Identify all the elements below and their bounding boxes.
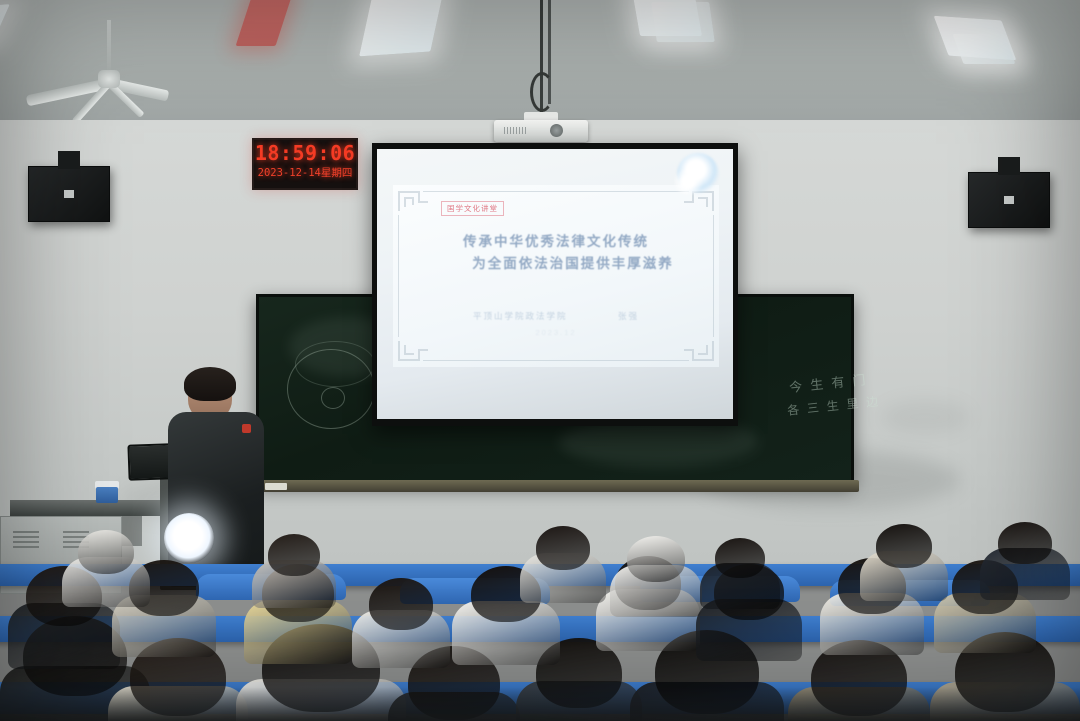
chalk-stick [265,483,287,490]
slide-border-top [423,191,689,192]
ceiling-light-panel [651,2,715,42]
ceiling-light-panel [0,4,10,48]
screen-light-flare [677,153,719,195]
audience-person-head [536,526,590,570]
wall-speaker-right [968,172,1050,228]
led-clock: 18:59:06 2023-12-14星期四 [252,138,358,190]
wall-speaker-left [28,166,110,222]
projector [494,112,588,142]
slide-title: 传承中华优秀法律文化传统 为全面依法治国提供丰厚滋养 [393,231,719,275]
meander-border-top-left [398,191,428,221]
jacket-badge [242,424,251,433]
audience-area [0,520,1080,721]
meander-border-top-right [684,191,714,221]
audience-person-head [369,578,433,630]
slide-badge: 国学文化讲堂 [441,201,504,216]
equipment-desk [10,500,160,516]
audience-person-head [268,534,320,576]
projector-cable-loop [530,72,554,112]
projection-screen-frame: 国学文化讲堂 传承中华优秀法律文化传统 为全面依法治国提供丰厚滋养 平顶山学院政… [372,143,738,426]
desk-device-blue [96,487,118,503]
audience-person-head [998,522,1052,564]
ceiling-light-panel [359,0,443,56]
audience-person-head [78,530,134,574]
slide-date: 2023.12 [393,328,719,337]
projection-screen: 国学文化讲堂 传承中华优秀法律文化传统 为全面依法治国提供丰厚滋养 平顶山学院政… [377,149,733,419]
projector-lens-icon [550,124,563,137]
clock-date: 2023-12-14星期四 [254,166,356,180]
chalk-tray [255,480,859,492]
slide-title-line2: 为全面依法治国提供丰厚滋养 [393,253,719,275]
slide-presenter: 张强 [618,310,639,322]
audience-person-head [627,536,685,582]
ceiling-red-light-reflection [235,0,292,46]
ceiling-light-panel [952,34,1015,64]
slide-subtitle: 平顶山学院政法学院 张强 [393,310,719,322]
slide-affiliation: 平顶山学院政法学院 [473,311,568,321]
chalk-arc [295,341,375,387]
ceiling-fan-icon [34,20,184,110]
floor-shadow [0,687,1080,721]
presentation-slide: 国学文化讲堂 传承中华优秀法律文化传统 为全面依法治国提供丰厚滋养 平顶山学院政… [393,185,719,367]
clock-time: 18:59:06 [254,140,356,166]
audience-person-head [876,524,932,568]
lecture-hall-photo: 18:59:06 2023-12-14星期四 今 生 有 门 各 三 生 里 边 [0,0,1080,721]
audience-person-head [715,538,765,578]
slide-border-bottom [423,360,689,361]
chalk-circle-small [321,387,345,409]
slide-title-line1: 传承中华优秀法律文化传统 [463,234,649,249]
